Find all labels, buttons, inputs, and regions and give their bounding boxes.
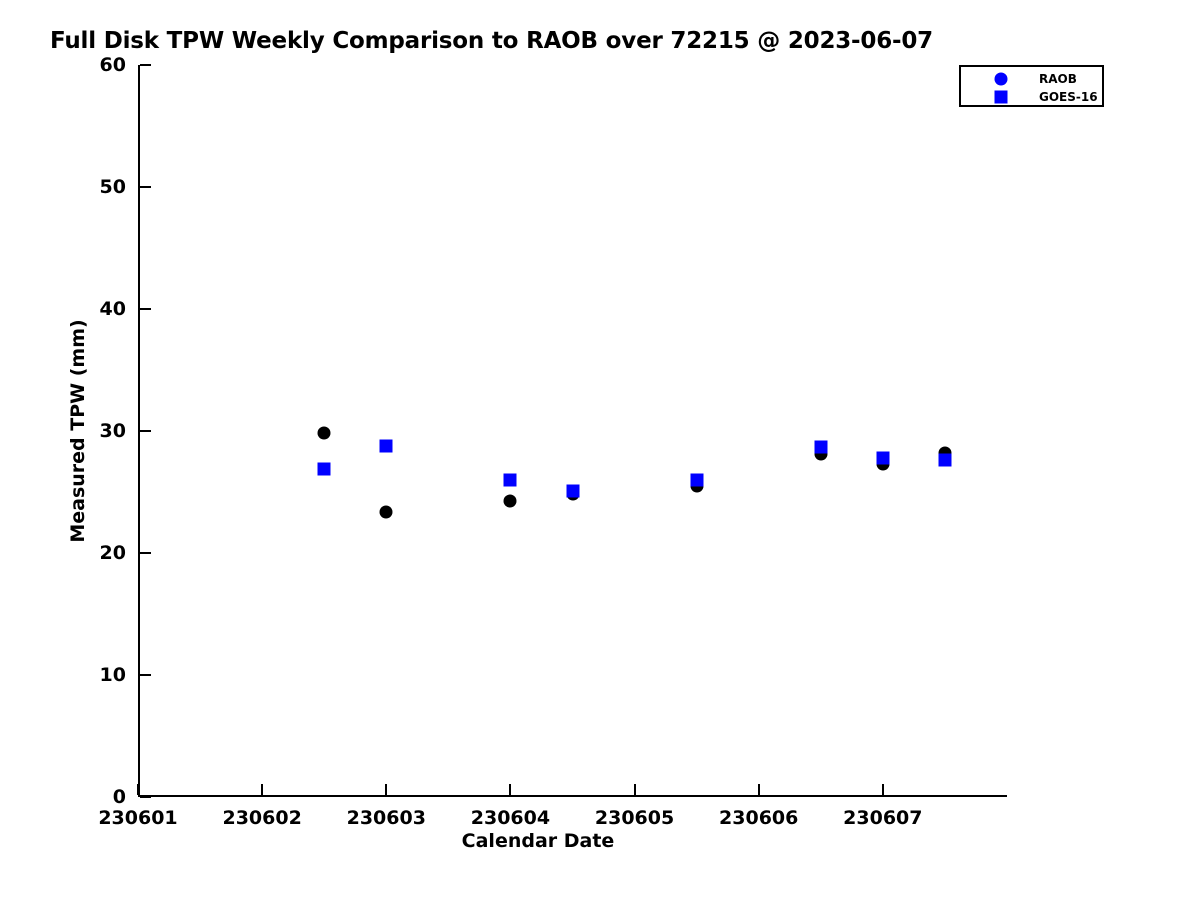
y-tick-mark <box>140 308 151 310</box>
y-tick-label: 60 <box>100 54 126 76</box>
y-tick-label: 50 <box>100 176 126 198</box>
data-point-goes-16 <box>566 484 579 497</box>
legend-label: RAOB <box>1039 72 1077 86</box>
data-point-raob <box>318 427 331 440</box>
data-point-goes-16 <box>814 440 827 453</box>
x-axis-line <box>138 795 1007 797</box>
x-tick-label: 230603 <box>347 807 426 829</box>
data-point-goes-16 <box>938 454 951 467</box>
x-tick-mark <box>385 784 387 795</box>
x-tick-mark <box>882 784 884 795</box>
x-tick-mark <box>509 784 511 795</box>
y-tick-mark <box>140 796 151 798</box>
data-point-raob <box>504 494 517 507</box>
x-tick-label: 230605 <box>595 807 674 829</box>
x-tick-mark <box>758 784 760 795</box>
plot-area: 0102030405060 23060123060223060323060423… <box>138 65 1007 797</box>
y-tick-mark <box>140 552 151 554</box>
legend-label: GOES-16 <box>1039 90 1098 104</box>
x-tick-label: 230607 <box>843 807 922 829</box>
x-tick-mark <box>634 784 636 795</box>
y-tick-label: 30 <box>100 420 126 442</box>
legend-entry-goes-16: GOES-16 <box>961 87 1102 106</box>
x-axis-label: Calendar Date <box>462 830 615 852</box>
y-tick-mark <box>140 674 151 676</box>
y-tick-mark <box>140 430 151 432</box>
chart-title: Full Disk TPW Weekly Comparison to RAOB … <box>50 28 933 54</box>
x-tick-label: 230606 <box>719 807 798 829</box>
legend-marker-square-icon <box>995 90 1008 103</box>
legend-entry-raob: RAOB <box>961 69 1102 88</box>
y-tick-label: 0 <box>113 786 126 808</box>
x-tick-label: 230604 <box>471 807 550 829</box>
x-tick-label: 230602 <box>222 807 301 829</box>
data-point-goes-16 <box>504 473 517 486</box>
y-tick-label: 40 <box>100 298 126 320</box>
x-tick-mark <box>137 784 139 795</box>
y-tick-mark <box>140 186 151 188</box>
y-tick-label: 20 <box>100 542 126 564</box>
y-tick-mark <box>140 64 151 66</box>
data-point-goes-16 <box>318 462 331 475</box>
chart-figure: Full Disk TPW Weekly Comparison to RAOB … <box>0 0 1200 900</box>
y-axis-label: Measured TPW (mm) <box>67 319 89 542</box>
data-point-goes-16 <box>690 473 703 486</box>
data-point-goes-16 <box>380 439 393 452</box>
data-point-raob <box>380 505 393 518</box>
data-point-goes-16 <box>876 451 889 464</box>
x-tick-mark <box>261 784 263 795</box>
chart-legend: RAOBGOES-16 <box>959 65 1104 107</box>
x-tick-label: 230601 <box>98 807 177 829</box>
y-tick-label: 10 <box>100 664 126 686</box>
legend-marker-circle-icon <box>995 72 1008 85</box>
